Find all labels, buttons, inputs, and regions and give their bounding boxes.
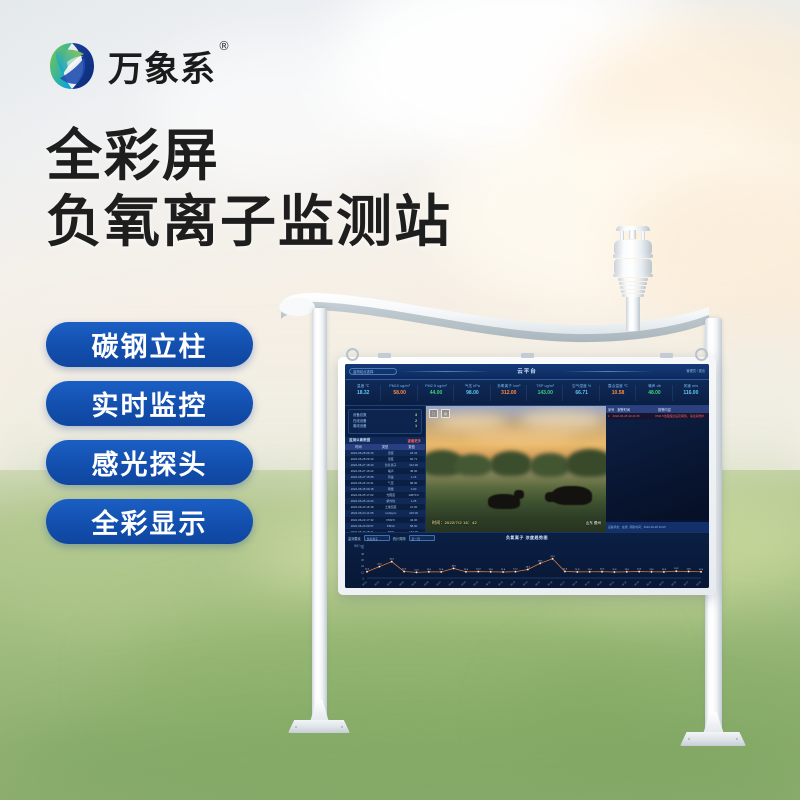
chart-point-label: 12.0 — [625, 569, 630, 571]
chart-x-tick: 06-11 — [486, 581, 492, 587]
view-more-link[interactable]: 查看更多 — [407, 438, 421, 443]
alarm-cell: 1 — [608, 414, 610, 418]
header-decoration — [563, 371, 653, 372]
alarm-cell: 2022-06-28 10:21:35 — [613, 414, 653, 418]
base-bolt — [688, 738, 690, 740]
chart-element-select[interactable]: 负氧离子 — [364, 535, 390, 541]
chart-point[interactable] — [428, 571, 430, 573]
metric-value: 66.71 — [563, 389, 599, 398]
alarm-panel-footer: 设备状态：在线刷新时间：2022-06-28 10:25 — [606, 522, 709, 532]
headline-line-2: 负氧离子监测站 — [46, 190, 452, 256]
data-table-title: 监测요素数据 — [349, 438, 370, 443]
headline-block: 全彩屏 负氧离子监测站 — [46, 124, 452, 256]
chart-point-label: 12.6 — [563, 568, 568, 570]
chart-x-tick: 06-18 — [572, 581, 578, 587]
chart-x-tick: 06-17 — [560, 581, 566, 587]
registered-trademark-icon: ® — [218, 39, 231, 53]
user-menu[interactable]: 管理员 / 退出 — [686, 368, 705, 373]
sensor-lower-body — [614, 259, 652, 275]
chart-point[interactable] — [576, 571, 578, 573]
bezel-mount-tab — [378, 353, 391, 358]
alarm-column-header: 报警内容 — [658, 407, 707, 412]
video-tree — [454, 454, 492, 476]
chart-point[interactable] — [391, 561, 393, 563]
chart-x-tick: 06-28 — [696, 581, 702, 587]
chart-y-label: 浓度 /cm³ — [354, 544, 364, 548]
chart-point-label: 11.8 — [662, 569, 667, 571]
chart-x-tick: 06-16 — [548, 581, 554, 587]
chart-point[interactable] — [465, 571, 467, 573]
chart-point[interactable] — [626, 571, 628, 573]
stat-value: 1 — [415, 424, 417, 430]
metric-cell: TSP ug/m³143.00 — [527, 380, 563, 405]
data-table-body: 2022-06-28 09:15温度18.322022-06-28 09:10湿… — [345, 450, 425, 535]
camera-feed-panel[interactable]: ⛶ ◎ 时间：2022/7/2 16：42 山东 德州 — [426, 406, 606, 532]
metric-value: 98.00 — [454, 389, 490, 398]
video-tree — [490, 451, 532, 476]
metric-value: 116.00 — [673, 389, 709, 398]
radiation-shield-disc — [618, 278, 648, 281]
badge-label: 全彩显示 — [92, 502, 208, 541]
chart-x-tick: 06-03 — [387, 581, 393, 587]
metric-value: 312.00 — [491, 389, 527, 398]
badge-label: 实时监控 — [92, 384, 208, 423]
metric-cell: PM10 ug/m³58.00 — [381, 380, 417, 405]
data-table-header: 监测요素数据 查看更多 — [345, 437, 425, 444]
chart-point[interactable] — [477, 571, 479, 573]
video-cow-head — [514, 490, 524, 499]
bezel-mount-tab — [521, 353, 534, 358]
trend-line-chart: 01224364860浓度 /cm³12.206-0122.006-0231.6… — [345, 543, 709, 588]
trend-chart-panel: 监测要素 负氧离子 统计周期 近一月 负氧离子 浓度趋势图 0122436486… — [345, 532, 709, 588]
sensor-stem — [629, 230, 636, 239]
chart-y-tick: 12 — [361, 570, 364, 574]
metric-value: 48.00 — [636, 389, 672, 398]
chart-point[interactable] — [552, 558, 554, 560]
product-marketing-image: 万象系 ® 全彩屏 负氧离子监测站 碳钢立柱 实时监控 感光探头 全彩显示 — [0, 0, 800, 800]
chart-point[interactable] — [539, 562, 541, 564]
metric-cell: 风速 m/s116.00 — [673, 380, 709, 405]
metric-strip: 温度 ℃18.32PM10 ug/m³58.00PM2.5 ug/m³44.00… — [345, 380, 709, 406]
feature-badge-light-sensor: 感光探头 — [46, 440, 253, 485]
metric-cell: 气压 kPa98.00 — [454, 380, 490, 405]
metric-cell: 负氧离子 /cm³312.00 — [491, 380, 527, 405]
sensor-collar — [613, 274, 653, 277]
alarm-cell: PM2.5浓度超过设定阈值，请注意防护 — [655, 414, 707, 418]
alarm-table-header: 序号报警时间报警内容 — [606, 406, 709, 413]
video-location-label: 山东 德州 — [586, 521, 601, 526]
chart-x-tick: 06-15 — [535, 581, 541, 587]
sensor-collar — [613, 254, 653, 258]
metric-value: 58.00 — [381, 389, 417, 398]
chart-y-tick: 24 — [361, 564, 364, 568]
metric-cell: PM2.5 ug/m³44.00 — [418, 380, 454, 405]
video-cloud — [466, 430, 576, 444]
chart-x-tick: 06-05 — [412, 581, 418, 587]
alarm-footer-item: 刷新时间：2022-06-28 10:25 — [630, 525, 666, 529]
chart-y-tick: 0 — [363, 577, 365, 581]
radiation-shield-disc — [619, 282, 647, 285]
alarm-table-body: 12022-06-28 10:21:35PM2.5浓度超过设定阈值，请注意防护 — [606, 413, 709, 419]
chart-title: 负氧离子 浓度趋势图 — [506, 535, 548, 541]
base-bolt — [341, 726, 343, 728]
chart-point-label: 31.6 — [390, 559, 395, 561]
video-timestamp: 时间：2022/7/2 16：42 — [432, 520, 477, 526]
chart-x-tick: 06-26 — [671, 581, 677, 587]
chart-x-tick: 06-06 — [424, 581, 430, 587]
station-select[interactable]: 监测站点选择 — [349, 368, 397, 375]
chart-y-tick: 36 — [361, 558, 364, 562]
badge-label: 感光探头 — [92, 443, 208, 482]
chart-point-label: 11.8 — [439, 569, 444, 571]
metric-cell: 空气湿度 %66.71 — [563, 380, 599, 405]
feature-badge-list: 碳钢立柱 实时监控 感光探头 全彩显示 — [46, 322, 253, 544]
sensor-upper-body — [614, 240, 652, 255]
chart-point-label: 12.5 — [402, 569, 407, 571]
video-tree — [530, 453, 570, 477]
chart-point[interactable] — [675, 570, 677, 572]
chart-point-label: 12.0 — [427, 569, 432, 571]
chart-point[interactable] — [527, 569, 529, 571]
chart-point[interactable] — [366, 571, 368, 573]
ultrasonic-weather-sensor — [604, 226, 662, 331]
chart-point-label: 12.0 — [649, 569, 654, 571]
radiation-shield-disc — [620, 286, 646, 289]
chart-point[interactable] — [589, 571, 591, 573]
chart-point-label: 12.0 — [464, 569, 469, 571]
metric-cell: 温度 ℃18.32 — [345, 380, 381, 405]
chart-point-label: 12.2 — [365, 569, 370, 571]
chart-x-tick: 06-01 — [362, 581, 368, 587]
video-cow — [552, 486, 592, 505]
left-panel: 设备总数3在线设备2离线设备1 监测요素数据 查看更多 时间类型数值 2022-… — [345, 406, 426, 532]
alarm-footer-item: 设备状态：在线 — [608, 525, 628, 529]
bezel-mount-ring — [346, 348, 359, 361]
chart-point-label: 22.0 — [377, 564, 382, 566]
chart-point-label: 12.4 — [637, 569, 642, 571]
chart-point-label: 28.4 — [538, 560, 543, 562]
chart-point[interactable] — [440, 571, 442, 573]
chart-x-tick: 06-23 — [634, 581, 640, 587]
feature-badge-full-color: 全彩显示 — [46, 499, 253, 544]
chart-x-tick: 06-12 — [498, 581, 504, 587]
header-decoration — [401, 371, 491, 372]
chart-x-tick: 06-04 — [399, 581, 405, 587]
chart-x-tick: 06-14 — [523, 581, 529, 587]
chart-x-tick: 06-24 — [647, 581, 653, 587]
chart-x-tick: 06-13 — [511, 581, 517, 587]
chart-point[interactable] — [515, 571, 517, 573]
alarm-column-header: 报警时间 — [617, 407, 655, 412]
video-toolbar[interactable]: ⛶ ◎ — [429, 409, 450, 418]
chart-period-label: 统计周期 — [393, 536, 406, 541]
video-tree — [566, 449, 606, 477]
chart-x-tick: 06-25 — [659, 581, 665, 587]
badge-label: 碳钢立柱 — [92, 325, 208, 364]
chart-point[interactable] — [490, 571, 492, 573]
chart-point-label: 12.2 — [513, 569, 518, 571]
chart-point[interactable] — [663, 571, 665, 573]
video-stream: ⛶ ◎ 时间：2022/7/2 16：42 山东 德州 — [426, 406, 606, 532]
chart-x-tick: 06-21 — [610, 581, 616, 587]
globe-swirl-logo-icon — [46, 40, 98, 92]
chart-x-tick: 06-09 — [461, 581, 467, 587]
feature-badge-carbon-steel: 碳钢立柱 — [46, 322, 253, 367]
metric-value: 44.00 — [418, 389, 454, 398]
chart-x-tick: 06-22 — [622, 581, 628, 587]
alarm-panel-background — [606, 420, 709, 520]
chart-point[interactable] — [502, 571, 504, 573]
record-icon[interactable]: ◎ — [441, 409, 450, 418]
brand-name-text: 万象系 — [108, 50, 216, 90]
chart-point[interactable] — [416, 571, 418, 573]
chart-x-tick: 06-20 — [597, 581, 603, 587]
capture-icon[interactable]: ⛶ — [429, 409, 438, 418]
carbon-steel-pole-left — [312, 308, 327, 718]
brand-lockup: 万象系 ® — [46, 40, 216, 92]
chart-point[interactable] — [601, 571, 603, 573]
chart-x-tick: 06-07 — [436, 581, 442, 587]
chart-point[interactable] — [378, 566, 380, 568]
chart-x-tick: 06-19 — [585, 581, 591, 587]
chart-x-tick: 06-08 — [449, 581, 455, 587]
metric-cell: 露点温度 ℃10.58 — [600, 380, 636, 405]
metric-value: 143.00 — [527, 389, 563, 398]
chart-point-label: 12.6 — [686, 568, 691, 570]
brand-name: 万象系 ® — [108, 41, 216, 92]
alarm-row[interactable]: 12022-06-28 10:21:35PM2.5浓度超过设定阈值，请注意防护 — [606, 413, 709, 419]
video-cow-head — [545, 492, 557, 502]
chart-point-label: 11.8 — [575, 569, 580, 571]
chart-y-tick: 48 — [361, 552, 364, 556]
base-bolt — [295, 726, 297, 728]
metric-cell: 噪声 db48.00 — [636, 380, 672, 405]
chart-point[interactable] — [614, 571, 616, 573]
dashboard-body: 设备总数3在线设备2离线设备1 监测요素数据 查看更多 时间类型数值 2022-… — [345, 406, 709, 532]
device-stats-box: 设备总数3在线设备2离线设备1 — [348, 409, 422, 434]
base-bolt — [736, 738, 738, 740]
chart-point[interactable] — [688, 571, 690, 573]
chart-point-label: 12.4 — [476, 569, 481, 571]
video-cloud — [521, 410, 601, 430]
metric-value: 10.58 — [600, 389, 636, 398]
headline-line-1: 全彩屏 — [46, 124, 452, 190]
chart-x-tick: 06-02 — [375, 581, 381, 587]
chart-element-label: 监测要素 — [348, 536, 361, 541]
chart-x-tick: 06-10 — [473, 581, 479, 587]
chart-point-label: 11.6 — [612, 569, 617, 571]
chart-point-label: 12.0 — [699, 569, 704, 571]
chart-point-label: 12.2 — [600, 569, 605, 571]
chart-point-label: 12.0 — [588, 569, 593, 571]
alarm-column-header: 序号 — [608, 407, 614, 412]
chart-point-label: 13.2 — [674, 568, 679, 570]
chart-controls: 监测要素 负氧离子 统计周期 近一月 — [348, 535, 435, 541]
stat-label: 离线设备 — [353, 424, 367, 430]
chart-point-label: 12.0 — [489, 569, 494, 571]
chart-point-label: 18.6 — [451, 565, 456, 567]
chart-point[interactable] — [700, 571, 702, 573]
chart-point[interactable] — [564, 571, 566, 573]
chart-point[interactable] — [638, 571, 640, 573]
stat-row: 离线设备1 — [353, 424, 417, 430]
chart-period-select[interactable]: 近一月 — [409, 535, 435, 541]
feature-badge-realtime-monitor: 实时监控 — [46, 381, 253, 426]
bezel-mount-ring — [695, 348, 708, 361]
dashboard-header: 监测站点选择 云平台 管理员 / 退出 — [345, 364, 709, 380]
chart-point-label: 37.2 — [550, 556, 555, 558]
dashboard-title: 云平台 — [517, 367, 537, 375]
chart-point[interactable] — [651, 571, 653, 573]
chart-point-label: 11.6 — [501, 569, 506, 571]
chart-point[interactable] — [453, 567, 455, 569]
metric-value: 18.32 — [345, 389, 381, 398]
led-screen: 监测站点选择 云平台 管理员 / 退出 温度 ℃18.32PM10 ug/m³5… — [345, 364, 709, 588]
chart-x-tick: 06-27 — [684, 581, 690, 587]
chart-point-label: 11.0 — [414, 569, 419, 571]
alarm-panel: 序号报警时间报警内容 12022-06-28 10:21:35PM2.5浓度超过… — [606, 406, 709, 532]
bezel-mount-tab — [660, 353, 673, 358]
radiation-shield-disc — [621, 290, 645, 293]
chart-point[interactable] — [403, 571, 405, 573]
sensor-mast — [626, 297, 640, 331]
